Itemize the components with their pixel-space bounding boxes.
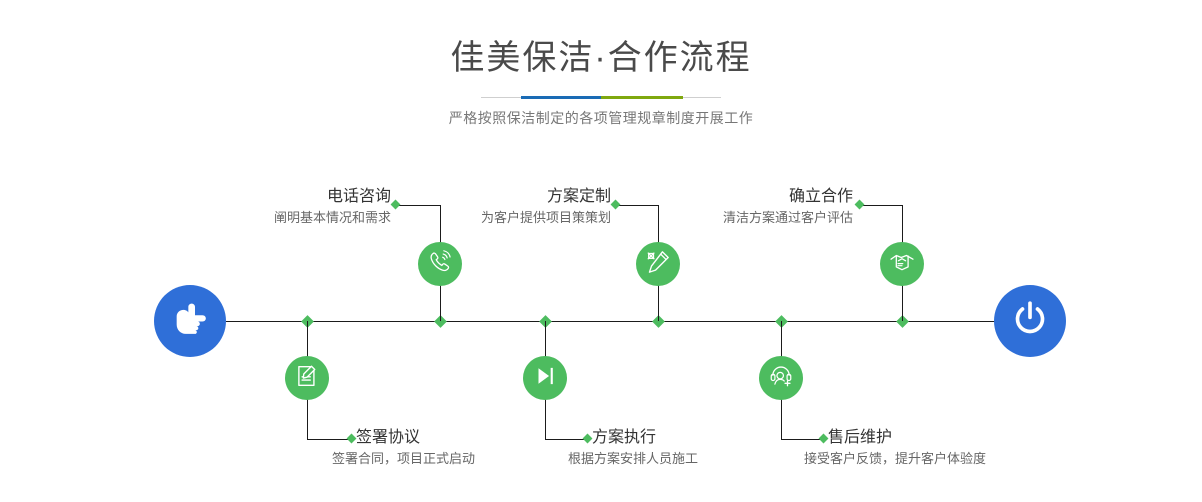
flow-node-step-5[interactable] — [880, 242, 924, 286]
play-skip-icon — [532, 363, 558, 394]
step-desc-5: 清洁方案通过客户评估 — [648, 208, 853, 228]
step-label-1: 电话咨询 阐明基本情况和需求 — [186, 186, 391, 228]
flow-end-node[interactable] — [994, 285, 1066, 357]
flow-start-node[interactable] — [154, 285, 226, 357]
flow-node-step-2[interactable] — [285, 356, 329, 400]
step-desc-3: 为客户提供项目策策划 — [406, 208, 611, 228]
step-desc-2: 签署合同，项目正式启动 — [332, 449, 596, 469]
phone-call-icon — [427, 249, 453, 280]
step-title-6: 售后维护 — [828, 427, 1108, 449]
flow-node-step-1[interactable] — [418, 242, 462, 286]
handshake-icon — [889, 249, 915, 280]
step-title-4: 方案执行 — [592, 427, 842, 449]
step-label-3: 方案定制 为客户提供项目策策划 — [406, 186, 611, 228]
pencil-design-icon — [645, 249, 671, 280]
connector-horizontal-step-6 — [781, 439, 824, 440]
step-title-1: 电话咨询 — [186, 186, 391, 208]
step-title-2: 签署协议 — [356, 427, 596, 449]
label-marker-step-5 — [855, 200, 865, 210]
pointing-hand-icon — [170, 299, 210, 344]
step-label-5: 确立合作 清洁方案通过客户评估 — [648, 186, 853, 228]
flow-chart-page: 佳美保洁·合作流程 严格按照保洁制定的各项管理规章制度开展工作 — [0, 0, 1202, 502]
step-title-3: 方案定制 — [406, 186, 611, 208]
connector-horizontal-step-4 — [545, 439, 588, 440]
label-marker-step-3 — [611, 200, 621, 210]
label-marker-step-2 — [347, 434, 357, 444]
step-desc-1: 阐明基本情况和需求 — [186, 208, 391, 228]
flow-node-step-4[interactable] — [523, 356, 567, 400]
step-desc-4: 根据方案安排人员施工 — [568, 449, 842, 469]
customer-service-add-icon — [768, 363, 794, 394]
label-marker-step-1 — [391, 200, 401, 210]
flow-node-step-3[interactable] — [636, 242, 680, 286]
document-edit-icon — [294, 363, 320, 394]
connector-horizontal-step-2 — [307, 439, 352, 440]
step-label-6: 售后维护 接受客户反馈，提升客户体验度 — [828, 427, 1108, 469]
process-flow-diagram: 电话咨询 阐明基本情况和需求 签署协议 签署合同，项目正式启动 — [0, 0, 1202, 502]
timeline-main-line — [226, 321, 995, 322]
power-icon — [1010, 299, 1050, 344]
connector-horizontal-step-5 — [860, 205, 903, 206]
step-label-2: 签署协议 签署合同，项目正式启动 — [356, 427, 596, 469]
flow-node-step-6[interactable] — [759, 356, 803, 400]
step-desc-6: 接受客户反馈，提升客户体验度 — [804, 449, 1108, 469]
step-title-5: 确立合作 — [648, 186, 853, 208]
